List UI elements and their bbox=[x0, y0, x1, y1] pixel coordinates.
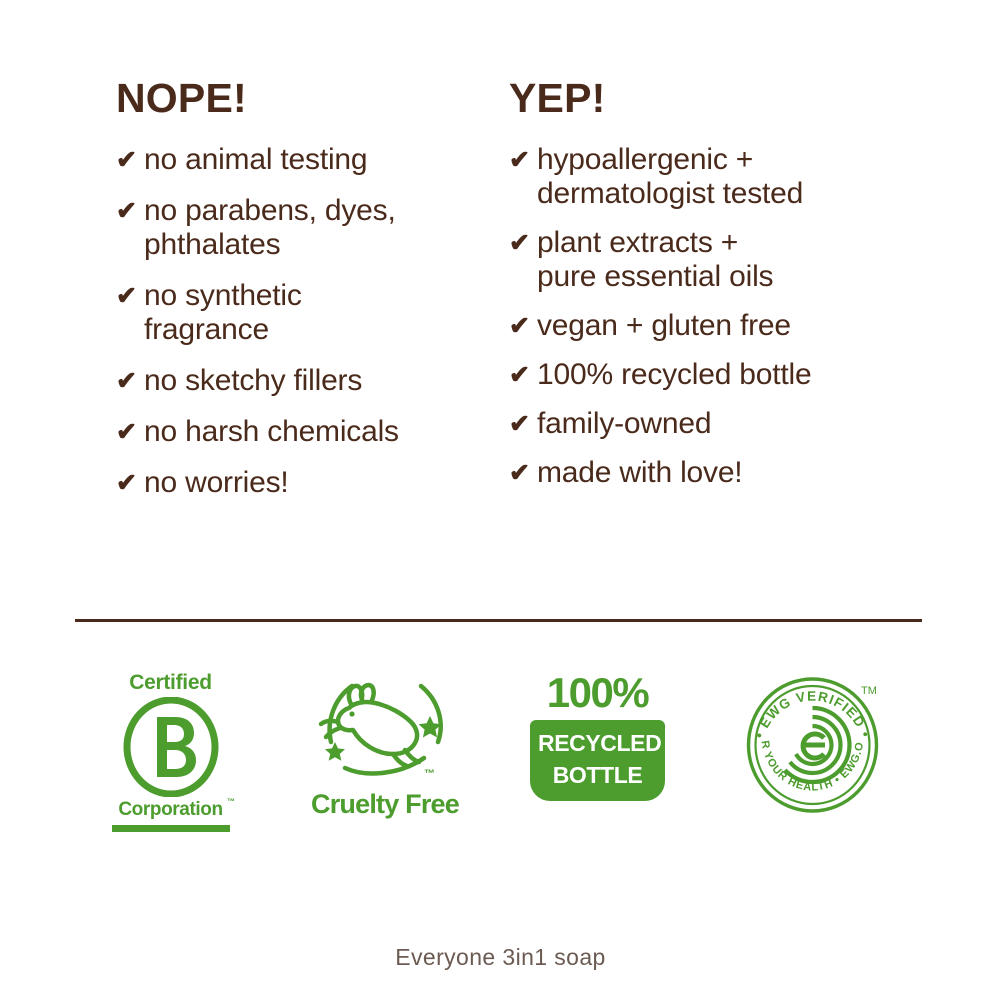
badge-cruelty-free: ™ Cruelty Free bbox=[305, 672, 465, 842]
claims-column-nope: NOPE! ✔ no animal testing ✔ no parabens,… bbox=[116, 78, 496, 517]
claim-text: no sketchy fillers bbox=[144, 364, 496, 398]
claim-text: made with love! bbox=[537, 456, 909, 490]
trademark-symbol: ™ bbox=[227, 798, 235, 806]
leaping-bunny-icon: ™ bbox=[305, 672, 465, 784]
claim-text: no parabens, dyes, phthalates bbox=[144, 194, 496, 262]
recycled-bottle-box: RECYCLED BOTTLE bbox=[530, 720, 665, 801]
claim-item: ✔ no harsh chemicals bbox=[116, 415, 496, 449]
claims-list-yep: ✔ hypoallergenic + dermatologist tested … bbox=[509, 143, 909, 490]
section-divider bbox=[75, 619, 922, 622]
product-caption: Everyone 3in1 soap bbox=[0, 944, 1001, 971]
claims-column-yep: YEP! ✔ hypoallergenic + dermatologist te… bbox=[509, 78, 909, 505]
claim-text: hypoallergenic + dermatologist tested bbox=[537, 143, 909, 211]
certification-badge-row: Certified Corporation™ bbox=[75, 672, 925, 852]
claims-column-yep-title: YEP! bbox=[509, 78, 909, 119]
check-icon: ✔ bbox=[509, 309, 537, 343]
claims-list-nope: ✔ no animal testing ✔ no parabens, dyes,… bbox=[116, 143, 496, 500]
claim-item: ✔ no animal testing bbox=[116, 143, 496, 177]
claim-text: no harsh chemicals bbox=[144, 415, 496, 449]
cruelty-free-label: Cruelty Free bbox=[305, 791, 465, 818]
claim-text: vegan + gluten free bbox=[537, 309, 909, 343]
claim-item: ✔ 100% recycled bottle bbox=[509, 358, 909, 392]
claim-item: ✔ no worries! bbox=[116, 466, 496, 500]
badge-ewg-verified: • EWG VERIFIED • FOR YOUR HEALTH • EWG.O… bbox=[740, 672, 885, 842]
check-icon: ✔ bbox=[116, 415, 144, 449]
check-icon: ✔ bbox=[509, 358, 537, 392]
claim-item: ✔ vegan + gluten free bbox=[509, 309, 909, 343]
product-claims-infographic: NOPE! ✔ no animal testing ✔ no parabens,… bbox=[0, 0, 1001, 1001]
claim-text: 100% recycled bottle bbox=[537, 358, 909, 392]
check-icon: ✔ bbox=[116, 466, 144, 500]
claim-item: ✔ no parabens, dyes, phthalates bbox=[116, 194, 496, 262]
badge-b-corporation: Certified Corporation™ bbox=[103, 672, 238, 842]
claim-text: no synthetic fragrance bbox=[144, 279, 496, 347]
recycled-bottle-line1: RECYCLED bbox=[538, 732, 657, 755]
check-icon: ✔ bbox=[509, 407, 537, 441]
check-icon: ✔ bbox=[116, 143, 144, 177]
claim-text: family-owned bbox=[537, 407, 909, 441]
recycled-bottle-line2: BOTTLE bbox=[538, 764, 657, 787]
ewg-verified-seal-icon: • EWG VERIFIED • FOR YOUR HEALTH • EWG.O… bbox=[740, 672, 885, 822]
check-icon: ✔ bbox=[116, 364, 144, 398]
claim-item: ✔ family-owned bbox=[509, 407, 909, 441]
recycled-percent-text: 100% bbox=[530, 672, 665, 714]
b-in-circle-icon bbox=[121, 697, 221, 797]
b-corp-top-text: Certified bbox=[103, 672, 238, 693]
b-corp-bottom-text: Corporation bbox=[118, 799, 222, 820]
claim-item: ✔ made with love! bbox=[509, 456, 909, 490]
leaping-bunny-cruelty-free-icon: ™ Cruelty Free bbox=[305, 672, 465, 818]
claims-column-nope-title: NOPE! bbox=[116, 78, 496, 119]
check-icon: ✔ bbox=[116, 194, 144, 228]
recycled-bottle-badge-icon: 100% RECYCLED BOTTLE bbox=[530, 672, 665, 801]
claim-text: no animal testing bbox=[144, 143, 496, 177]
check-icon: ✔ bbox=[509, 456, 537, 490]
ewg-seal-icon: • EWG VERIFIED • FOR YOUR HEALTH • EWG.O… bbox=[740, 672, 885, 817]
claim-item: ✔ plant extracts + pure essential oils bbox=[509, 226, 909, 294]
b-corp-underline-bar bbox=[112, 825, 230, 832]
claim-item: ✔ no sketchy fillers bbox=[116, 364, 496, 398]
claims-section: NOPE! ✔ no animal testing ✔ no parabens,… bbox=[0, 0, 1001, 600]
check-icon: ✔ bbox=[509, 143, 537, 177]
claim-text: plant extracts + pure essential oils bbox=[537, 226, 909, 294]
check-icon: ✔ bbox=[116, 279, 144, 313]
b-corp-bottom-text-wrap: Corporation™ bbox=[118, 800, 222, 819]
trademark-symbol: ™ bbox=[424, 768, 435, 780]
badge-recycled-bottle: 100% RECYCLED BOTTLE bbox=[530, 672, 665, 842]
claim-item: ✔ no synthetic fragrance bbox=[116, 279, 496, 347]
check-icon: ✔ bbox=[509, 226, 537, 260]
b-corp-circle-mark bbox=[121, 697, 221, 797]
trademark-symbol: TM bbox=[861, 685, 877, 697]
claim-text: no worries! bbox=[144, 466, 496, 500]
claim-item: ✔ hypoallergenic + dermatologist tested bbox=[509, 143, 909, 211]
b-corp-certification-icon: Certified Corporation™ bbox=[103, 672, 238, 832]
